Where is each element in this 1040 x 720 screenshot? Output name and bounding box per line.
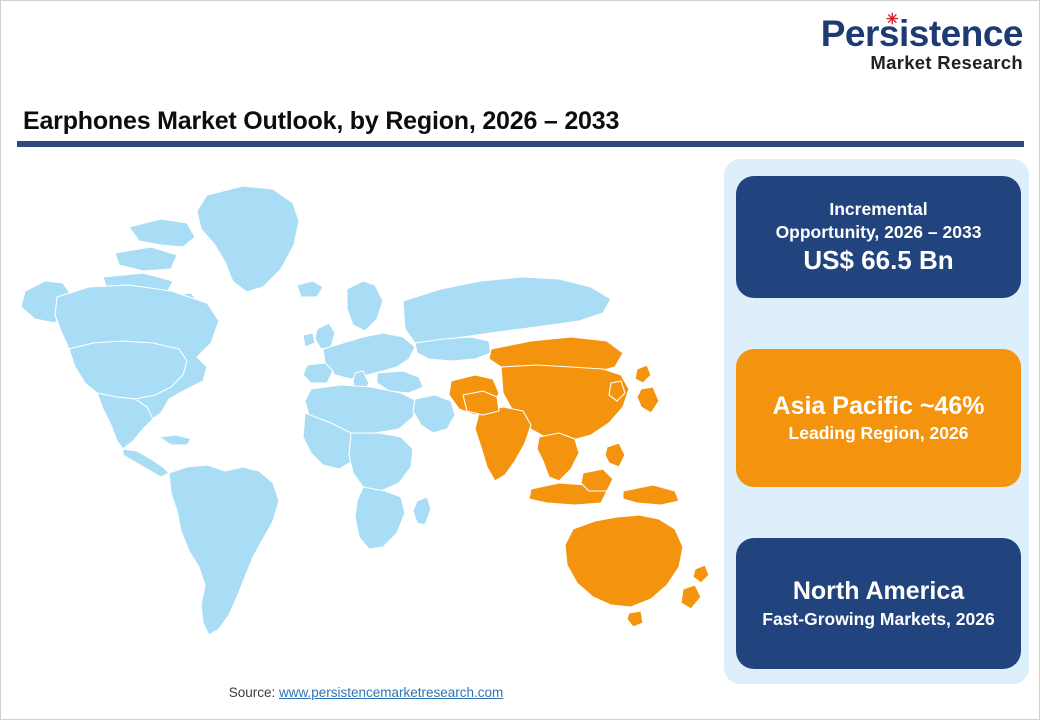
map-shape-scandinavia [347, 281, 383, 331]
stats-panel: Incremental Opportunity, 2026 – 2033 US$… [724, 159, 1029, 684]
map-region-asia-pacific [449, 337, 709, 627]
map-shape-new-zealand-north [693, 565, 709, 583]
world-map-svg [11, 161, 721, 671]
title-underline-rule [17, 141, 1024, 147]
map-shape-greenland [197, 186, 299, 292]
map-shape-borneo [581, 469, 613, 491]
fast-growing-value: North America [793, 576, 964, 607]
map-shape-arabia [413, 395, 455, 433]
map-shape-tasmania [627, 611, 643, 627]
source-line: Source: www.persistencemarketresearch.co… [1, 685, 731, 700]
map-shape-ireland [303, 333, 315, 347]
map-shape-philippines [605, 443, 625, 467]
map-shape-uk [315, 323, 335, 349]
incremental-label-line2: Opportunity, 2026 – 2033 [776, 221, 982, 244]
map-shape-southeast-asia [537, 433, 579, 481]
map-shape-central-america [123, 449, 169, 477]
map-shape-africa-south [355, 487, 405, 549]
source-url-link[interactable]: www.persistencemarketresearch.com [279, 685, 503, 700]
map-shape-iberia [303, 363, 333, 383]
map-shape-caribbean [159, 435, 191, 445]
map-shape-africa-central [349, 433, 413, 491]
map-shape-south-america [169, 465, 279, 635]
leading-region-label: Leading Region, 2026 [789, 422, 969, 445]
map-shape-new-guinea [623, 485, 679, 505]
incremental-value: US$ 66.5 Bn [803, 245, 953, 276]
leading-region-value: Asia Pacific ~46% [773, 391, 985, 422]
map-shape-madagascar [413, 497, 431, 525]
map-shape-russia [403, 277, 611, 343]
logo-star-icon: ✳ [886, 12, 899, 27]
world-map [11, 161, 721, 671]
stat-card-incremental-opportunity[interactable]: Incremental Opportunity, 2026 – 2033 US$… [736, 176, 1021, 298]
map-shape-new-zealand-south [681, 585, 701, 609]
stat-card-leading-region[interactable]: Asia Pacific ~46% Leading Region, 2026 [736, 349, 1021, 487]
incremental-label-line1: Incremental [829, 198, 927, 221]
map-shape-india [475, 407, 531, 481]
logo-wordmark: Persistence [793, 15, 1023, 52]
map-shape-japan-2 [637, 387, 659, 413]
map-shape-arctic-islands-2 [115, 247, 177, 271]
source-prefix: Source: [229, 685, 279, 700]
fast-growing-label: Fast-Growing Markets, 2026 [762, 608, 994, 631]
infographic-page: Persistence ✳ Market Research Earphones … [0, 0, 1040, 720]
map-shape-iceland [297, 281, 323, 297]
stat-card-fast-growing-market[interactable]: North America Fast-Growing Markets, 2026 [736, 538, 1021, 669]
map-shape-japan [635, 365, 651, 383]
map-shape-australia [565, 515, 683, 607]
company-logo: Persistence ✳ Market Research [793, 15, 1023, 77]
logo-tagline: Market Research [793, 54, 1023, 73]
map-shape-arctic-islands [129, 219, 195, 247]
page-title: Earphones Market Outlook, by Region, 202… [23, 107, 619, 136]
